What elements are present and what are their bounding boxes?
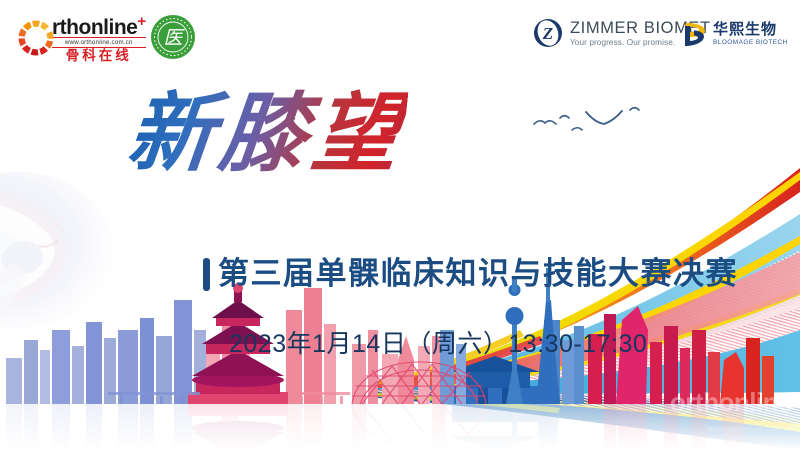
flying-birds-icon (534, 108, 639, 130)
orthonline-wordmark: rthonline+ (52, 12, 146, 37)
birds-nest-stadium (352, 362, 486, 404)
skyline-reflection (6, 404, 744, 450)
orthonline-plus-icon: + (137, 13, 145, 30)
orthonline-swirl-icon (16, 18, 56, 58)
svg-text:Z: Z (542, 24, 553, 43)
green-seal-icon: 医 (150, 14, 196, 60)
subtitle-accent-bar (203, 258, 210, 291)
bloomage-english-name: BLOOMAGE BIOTECH (713, 38, 788, 47)
bloomage-b-icon (681, 20, 707, 48)
orthonline-word-text: rthonline (52, 16, 137, 39)
logo-row: rthonline+ www.orthonline.com.cn 骨科在线 医 … (0, 0, 800, 72)
logo-orthonline[interactable]: rthonline+ www.orthonline.com.cn 骨科在线 (16, 12, 146, 63)
event-poster: rthonline+ www.orthonline.com.cn 骨科在线 医 … (0, 0, 800, 450)
orthonline-chinese-name: 骨科在线 (52, 48, 146, 63)
logo-green-seal[interactable]: 医 (150, 14, 196, 60)
knee-joint-illustration (0, 172, 115, 330)
corner-watermark: orthonline www.orthonline.com.cn (670, 388, 792, 444)
event-datetime: 2023年1月14日（周六）13:30-17:30 (229, 328, 647, 360)
logo-bloomage-biotech[interactable]: 华熙生物 BLOOMAGE BIOTECH (681, 20, 788, 48)
zimmer-z-icon: Z (533, 18, 563, 48)
event-subtitle: 第三届单髁临床知识与技能大赛决赛 (218, 255, 738, 293)
tiananmen-gate (450, 356, 540, 404)
brush-title: 新膝望 (123, 86, 409, 182)
bloomage-chinese-name: 华熙生物 (713, 22, 788, 38)
watermark-subtext: www.orthonline.com.cn (670, 416, 792, 444)
green-seal-character: 医 (163, 27, 185, 49)
watermark-text: orthonline (670, 387, 792, 417)
